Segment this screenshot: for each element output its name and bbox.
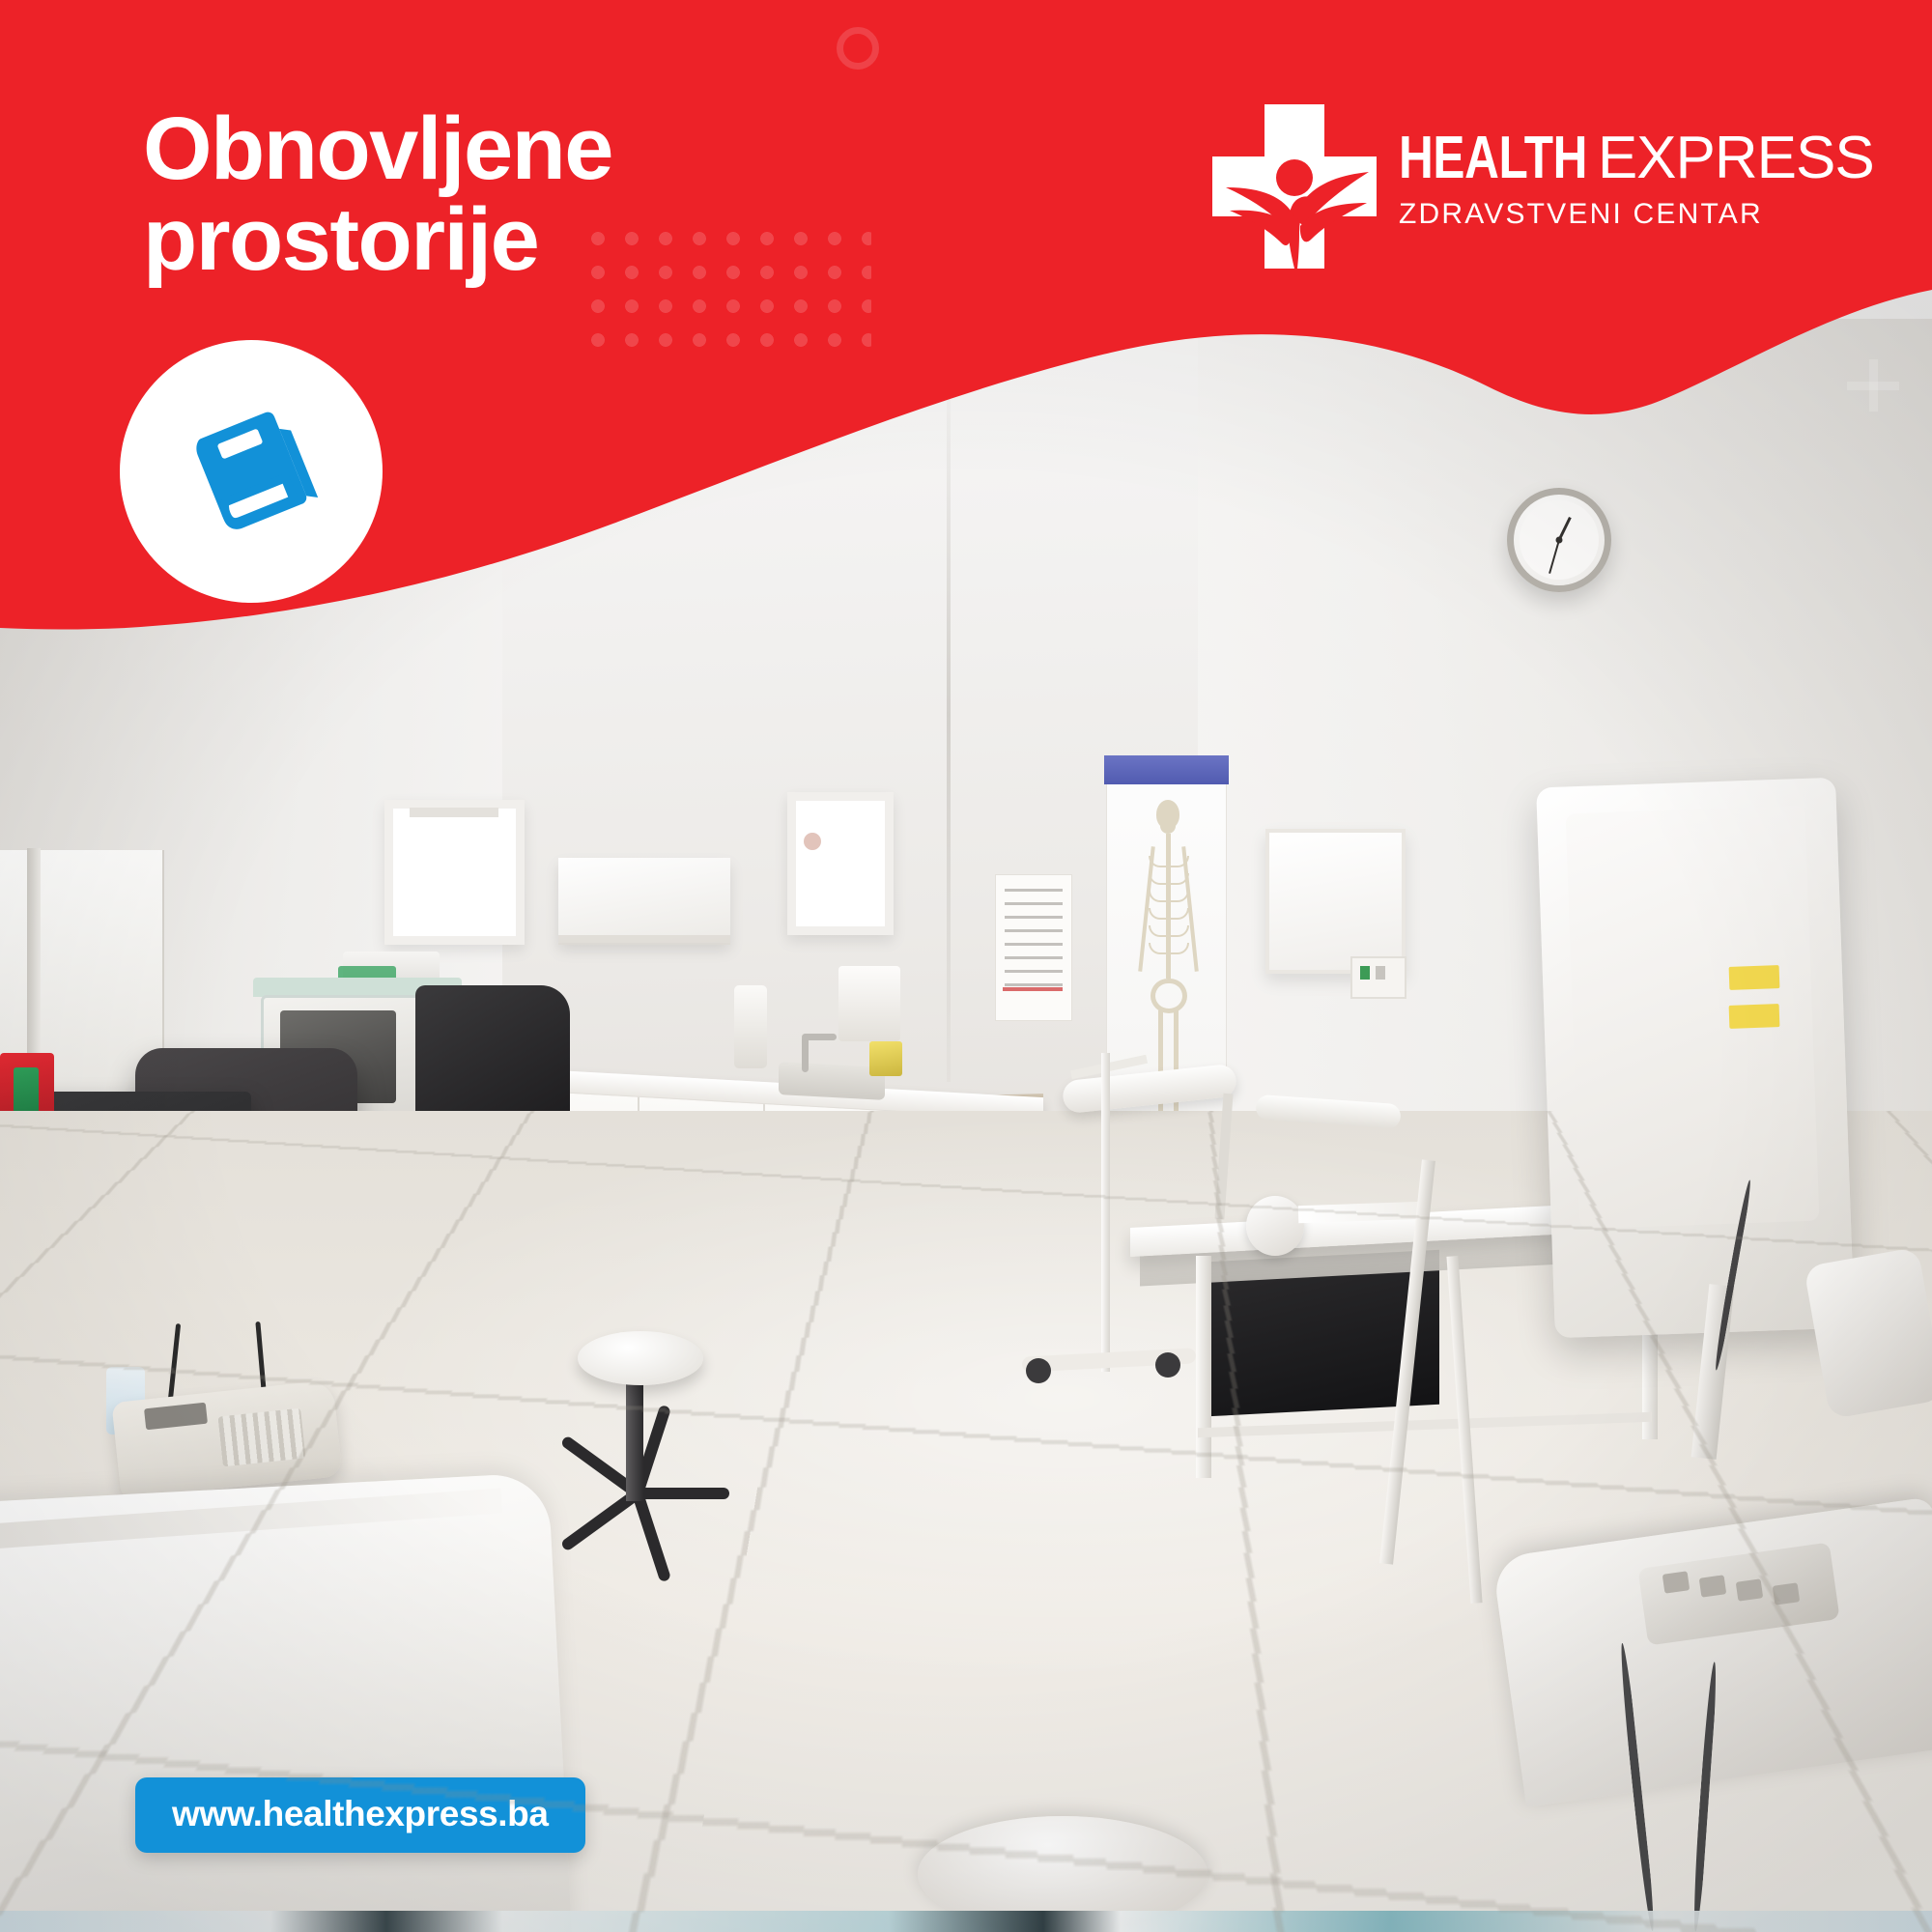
wall-corner-line	[947, 348, 951, 1082]
exam-paper-roll	[1246, 1196, 1304, 1256]
brand-tagline: ZDRAVSTVENI CENTAR	[1399, 198, 1882, 231]
skeleton-pelvis	[1151, 979, 1187, 1013]
black-bag	[415, 985, 570, 1130]
unit-button	[1699, 1575, 1727, 1597]
skeleton-rib	[1149, 908, 1189, 920]
eye-chart-lines	[1005, 889, 1063, 997]
iv-stand-wheel	[1155, 1352, 1180, 1378]
clinic-room-photo	[0, 0, 1932, 1932]
website-url-badge[interactable]: www.healthexpress.ba	[135, 1777, 585, 1853]
medical-cross-person-icon	[1203, 97, 1386, 280]
clock-face	[1520, 500, 1599, 580]
wall-window-right-mark	[804, 833, 821, 850]
stool-seat	[578, 1331, 703, 1385]
telephone-keypad	[218, 1408, 306, 1467]
skeleton-rib	[1149, 873, 1189, 885]
title-line-2: prostorije	[143, 195, 1012, 286]
topic-badge	[120, 340, 383, 603]
faucet-arm	[802, 1034, 837, 1040]
stool-leg	[633, 1488, 729, 1499]
unit-button	[1736, 1578, 1764, 1601]
brand-name-light: EXPRESS	[1598, 124, 1874, 192]
circle-outline-decoration-icon	[837, 27, 879, 70]
wall-window-left	[384, 800, 525, 945]
clock-minute-hand	[1548, 540, 1560, 574]
wall-clock-icon	[1507, 488, 1611, 592]
wall-label-yellow	[1729, 965, 1780, 990]
counter-yellow-container	[869, 1041, 902, 1076]
wall-switch-grey	[1376, 966, 1385, 980]
stool-post	[626, 1376, 643, 1501]
title-line-1: Obnovljene	[143, 104, 1012, 195]
eye-chart-red-line	[1003, 987, 1063, 991]
plus-decoration-icon	[1847, 359, 1899, 412]
photo-bottom-edge	[0, 1911, 1932, 1932]
iv-stand-wheel	[1026, 1358, 1051, 1383]
upper-cabinet-shadow	[558, 935, 730, 945]
printer-tray	[8, 0, 249, 8]
wall-window-left-vent	[410, 808, 498, 817]
iv-stand-pole	[1101, 1053, 1110, 1372]
skeleton-jaw	[1160, 826, 1176, 834]
printer-control-panel	[23, 122, 64, 129]
skeleton-rib	[1149, 925, 1189, 937]
skeleton-rib	[1149, 943, 1189, 954]
promo-canvas: Obnovljene prostorije HEALTH EXPRESS ZDR…	[0, 0, 1932, 1932]
skeleton-skull	[1156, 800, 1179, 829]
skeleton-rib	[1149, 891, 1189, 902]
unit-button	[1773, 1582, 1801, 1605]
paper-towel-dispenser	[838, 966, 900, 1041]
wall-window-right	[787, 792, 894, 935]
skeleton-poster-header	[1104, 755, 1229, 784]
brand-name-row: HEALTH EXPRESS	[1399, 124, 1882, 192]
book-icon	[179, 399, 324, 544]
large-display-screen	[1566, 806, 1820, 1229]
brand-name-bold: HEALTH	[1399, 124, 1587, 192]
upper-cabinet	[558, 858, 730, 943]
wall-switch-green	[1360, 966, 1370, 980]
brand-logo-text: HEALTH EXPRESS ZDRAVSTVENI CENTAR	[1399, 124, 1882, 231]
wall-label-yellow	[1729, 1004, 1780, 1029]
exam-table-leg-left	[1196, 1256, 1211, 1478]
page-title: Obnovljene prostorije	[143, 104, 1012, 286]
faucet-stem	[802, 1036, 809, 1072]
wall-whiteboard	[1265, 829, 1406, 974]
clock-center	[1556, 537, 1563, 544]
soap-dispenser	[734, 985, 767, 1068]
brand-logo[interactable]: HEALTH EXPRESS ZDRAVSTVENI CENTAR	[1203, 97, 1879, 275]
unit-button	[1662, 1571, 1690, 1593]
